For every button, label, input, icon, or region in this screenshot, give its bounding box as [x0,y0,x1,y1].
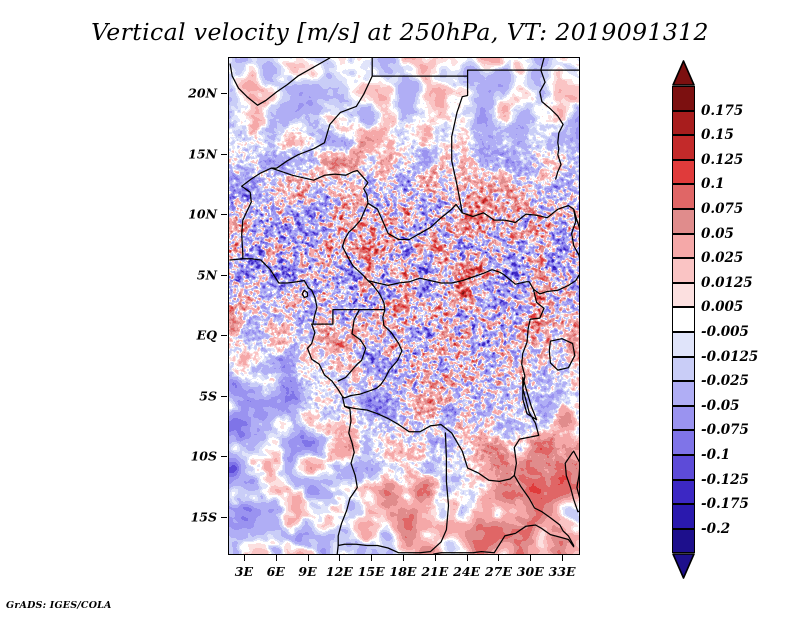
y-tick-mark [221,154,227,155]
colorbar-tick-label: 0.175 [701,103,743,119]
y-tick-label: 10N [188,207,217,222]
colorbar[interactable]: 0.1750.150.1250.10.0750.050.0250.01250.0… [672,60,695,560]
colorbar-band[interactable] [672,283,695,308]
colorbar-tick-label: -0.05 [701,398,739,414]
colorbar-tick-label: 0.125 [701,152,743,168]
colorbar-tick-label: -0.175 [701,496,749,512]
colorbar-band[interactable] [672,135,695,160]
colorbar-tick-label: 0.075 [701,201,743,217]
x-tick-label: 9E [298,564,316,579]
y-tick-mark [221,275,227,276]
x-tick-mark [530,555,531,561]
y-tick-label: 15N [188,146,217,161]
x-tick-label: 6E [267,564,285,579]
y-tick-mark [221,396,227,397]
colorbar-tick-label: -0.025 [701,373,749,389]
y-tick-label: 20N [188,86,217,101]
colorbar-tick-label: -0.125 [701,472,749,488]
x-tick-mark [403,555,404,561]
colorbar-band[interactable] [672,504,695,529]
colorbar-band[interactable] [672,184,695,209]
colorbar-tick-label: 0.025 [701,250,743,266]
colorbar-band[interactable] [672,406,695,431]
y-tick-label: 15S [191,509,217,524]
y-tick-label: 5S [199,388,217,403]
colorbar-tick-label: -0.1 [701,447,730,463]
x-tick-label: 27E [485,564,512,579]
y-tick-mark [221,335,227,336]
x-tick-label: 3E [235,564,253,579]
y-tick-mark [221,214,227,215]
colorbar-band[interactable] [672,209,695,234]
colorbar-max-arrow [672,60,695,86]
x-tick-mark [435,555,436,561]
map-plot-area[interactable] [228,57,580,555]
colorbar-band[interactable] [672,86,695,111]
x-tick-label: 21E [421,564,448,579]
colorbar-band[interactable] [672,307,695,332]
y-tick-mark [221,456,227,457]
x-tick-mark [371,555,372,561]
vertical-velocity-field [229,58,579,554]
colorbar-min-arrow [672,553,695,579]
colorbar-tick-label: 0.05 [701,226,734,242]
page-title: Vertical velocity [m/s] at 250hPa, VT: 2… [0,18,800,46]
x-tick-mark [498,555,499,561]
x-tick-mark [339,555,340,561]
y-tick-label: 5N [197,267,217,282]
colorbar-band[interactable] [672,234,695,259]
colorbar-band[interactable] [672,258,695,283]
colorbar-tick-label: -0.075 [701,422,749,438]
colorbar-tick-label: -0.2 [701,521,730,537]
colorbar-band[interactable] [672,529,695,554]
colorbar-band[interactable] [672,111,695,136]
colorbar-band[interactable] [672,455,695,480]
x-tick-label: 18E [390,564,417,579]
colorbar-tick-label: -0.005 [701,324,749,340]
colorbar-tick-label: 0.1 [701,176,725,192]
colorbar-tick-label: 0.15 [701,127,734,143]
colorbar-band[interactable] [672,381,695,406]
colorbar-band[interactable] [672,160,695,185]
x-tick-mark [562,555,563,561]
colorbar-tick-label: 0.0125 [701,275,753,291]
y-tick-mark [221,93,227,94]
colorbar-tick-label: 0.005 [701,299,743,315]
colorbar-band[interactable] [672,480,695,505]
y-tick-label: 10S [191,449,217,464]
y-tick-mark [221,517,227,518]
y-tick-label: EQ [197,328,217,343]
x-tick-label: 15E [358,564,385,579]
x-tick-mark [308,555,309,561]
x-tick-label: 12E [326,564,353,579]
colorbar-band[interactable] [672,430,695,455]
x-tick-label: 30E [517,564,544,579]
colorbar-band[interactable] [672,357,695,382]
x-tick-mark [244,555,245,561]
colorbar-tick-label: -0.0125 [701,349,758,365]
x-tick-mark [467,555,468,561]
x-tick-label: 24E [453,564,480,579]
footer-credit: GrADS: IGES/COLA [6,600,112,611]
colorbar-band[interactable] [672,332,695,357]
x-tick-label: 33E [549,564,576,579]
x-tick-mark [276,555,277,561]
